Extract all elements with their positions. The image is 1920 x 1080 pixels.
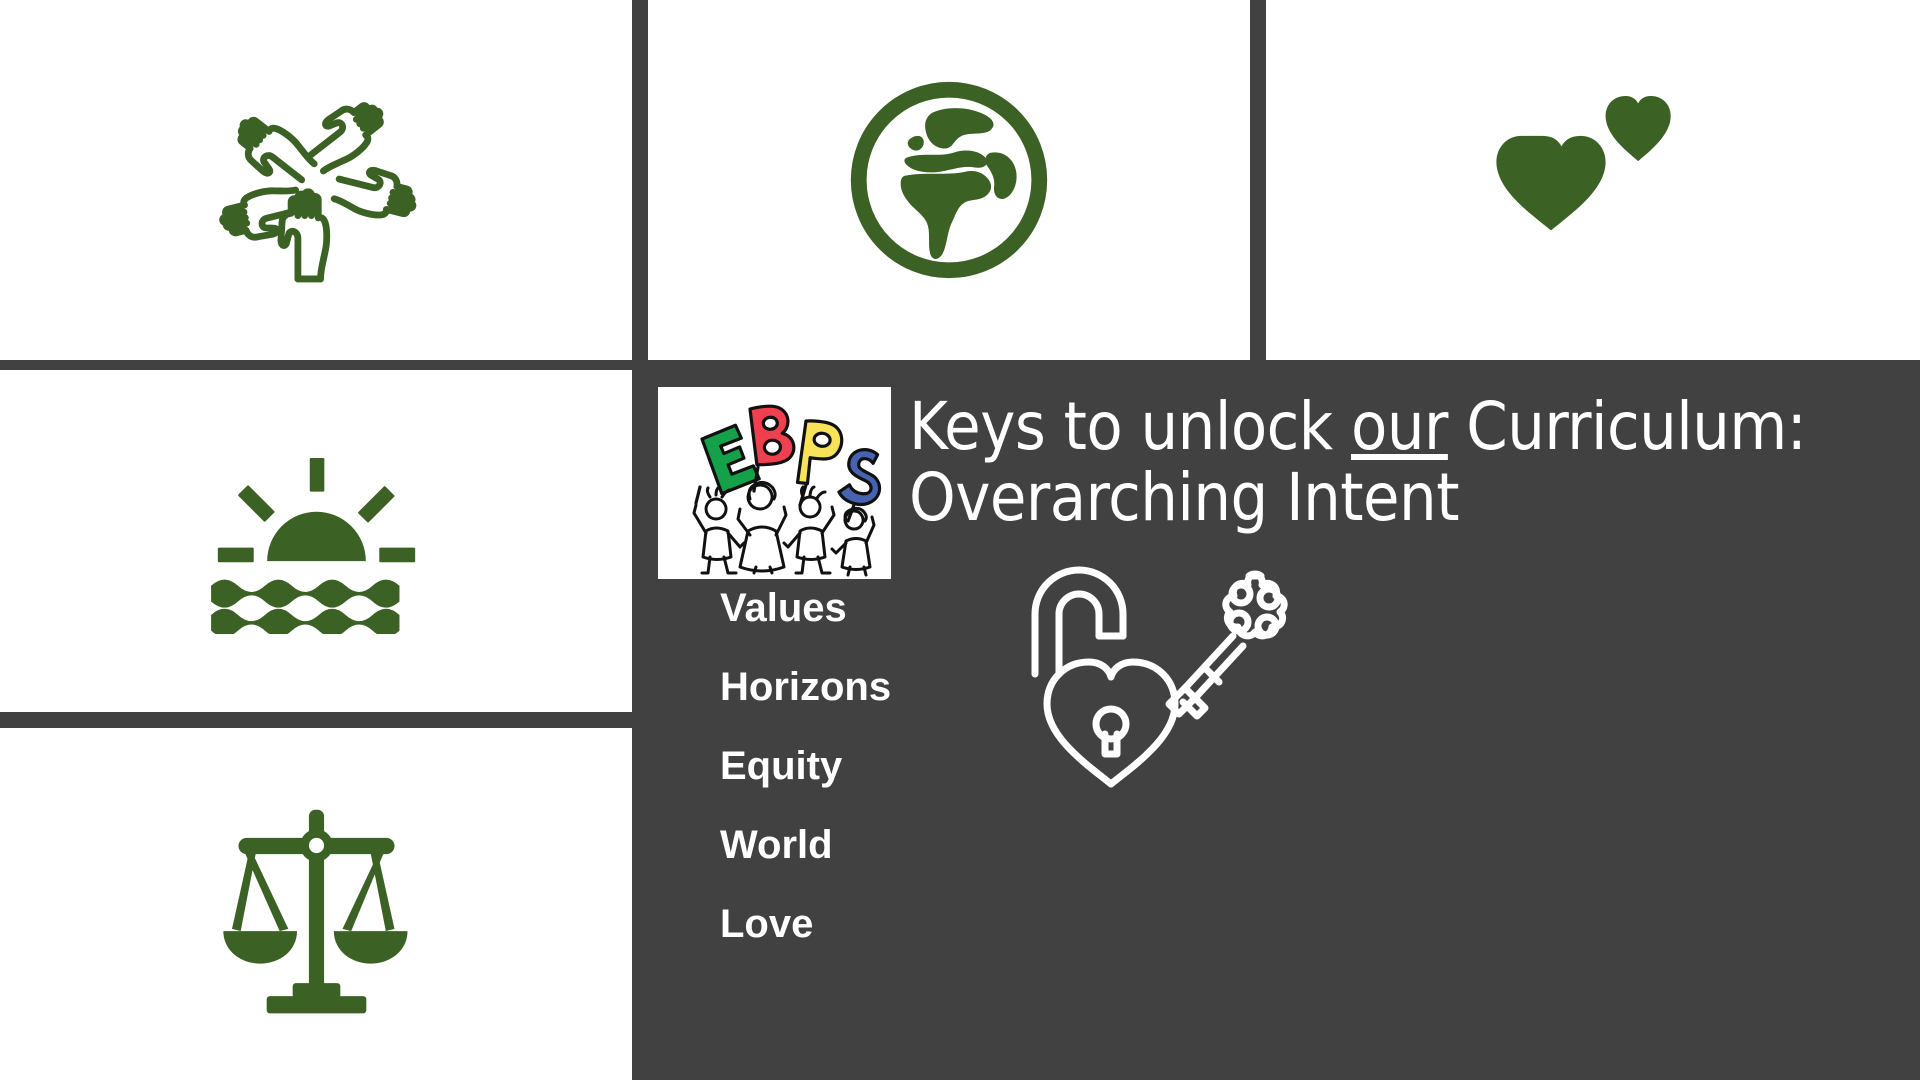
five-hands-circle-icon	[201, 73, 431, 288]
lock-key-artwork	[993, 552, 1333, 792]
panel-horizons-sunrise	[0, 370, 632, 712]
list-item: Love	[720, 904, 891, 944]
panel-world-globe	[648, 0, 1250, 360]
content-area: Keys to unlock our Curriculum:Overarchin…	[648, 370, 1920, 1080]
panel-equity-scales	[0, 728, 632, 1080]
ebps-school-logo	[658, 387, 891, 579]
list-item: World	[720, 825, 891, 865]
lock-and-key-group	[993, 552, 1333, 792]
page-title: Keys to unlock our Curriculum:Overarchin…	[909, 392, 1909, 533]
title-segment-before: Keys to unlock	[909, 388, 1351, 465]
two-hearts-icon	[1488, 85, 1698, 275]
title-segment-after: Curriculum:	[1448, 388, 1806, 465]
panel-love-hearts	[1266, 0, 1920, 360]
panel-values-hands	[0, 0, 632, 360]
sunrise-over-water-icon	[204, 449, 429, 634]
list-item: Values	[720, 588, 891, 628]
list-item: Equity	[720, 746, 891, 786]
title-line-2: Overarching Intent	[909, 459, 1459, 536]
title-emphasis-our: our	[1351, 388, 1448, 465]
balance-scales-icon	[219, 789, 414, 1019]
slide-canvas: Keys to unlock our Curriculum:Overarchin…	[0, 0, 1920, 1080]
heart-padlock-open-icon	[1035, 570, 1175, 784]
ornate-key-icon	[1169, 574, 1284, 716]
ebps-logo-artwork	[658, 387, 891, 579]
list-item: Horizons	[720, 667, 891, 707]
globe-icon	[844, 75, 1054, 285]
curriculum-values-list: Values Horizons Equity World Love	[720, 588, 891, 983]
